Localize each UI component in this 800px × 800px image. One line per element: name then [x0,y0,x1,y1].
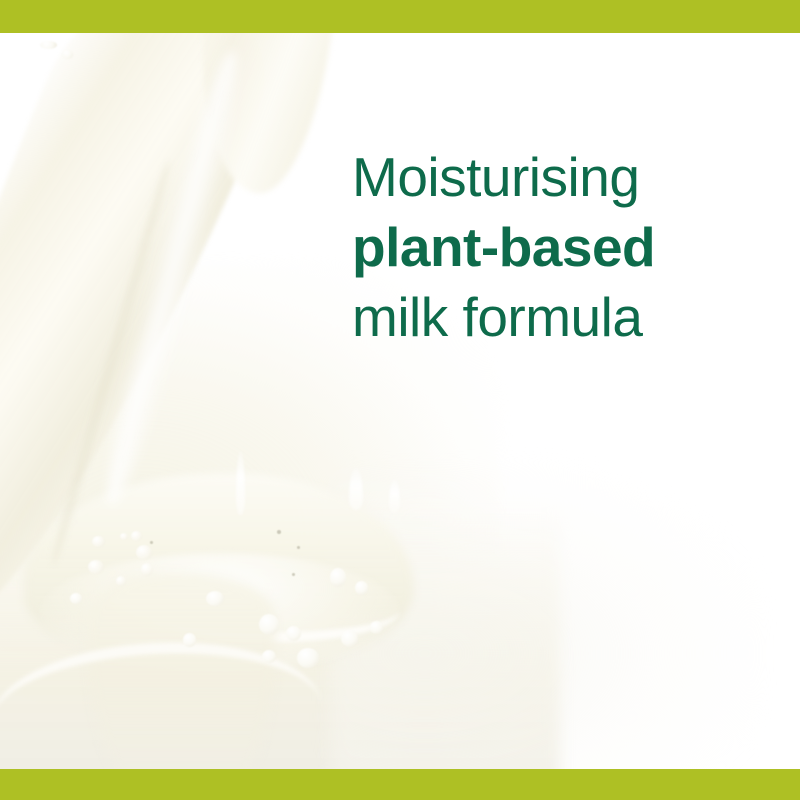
splash-droplet-13 [62,50,73,59]
splash-droplet-6 [297,648,319,668]
milk-pour-stream-foot [86,573,276,769]
milk-pool-base [0,503,560,769]
splash-droplet-9 [370,621,383,634]
splash-droplet-5 [286,626,301,641]
stream-bubble-4 [136,545,152,560]
splash-droplet-3 [206,591,224,606]
product-banner: Moisturising plant-based milk formula [0,0,800,800]
splash-wave-front [0,634,322,722]
milk-pour-stream-edge [46,159,175,567]
milk-pour-stream-neck [185,33,336,199]
splash-droplet-10 [183,633,196,647]
splash-droplet-8 [341,630,358,647]
headline-block: Moisturising plant-based milk formula [352,150,752,345]
splash-spike-1 [236,451,245,515]
milk-pour-stream-highlight [90,45,254,510]
stream-bubble-3 [131,531,142,541]
splash-droplet-1 [330,568,346,587]
splash-spike-3 [389,479,400,513]
milk-pour-stream [0,33,303,672]
splash-speck-1 [277,530,281,534]
splash-droplet-2 [355,581,368,595]
stream-bubble-1 [92,536,105,547]
splash-spike-2 [349,468,363,510]
stream-bubble-6 [141,563,153,576]
top-accent-bar [0,0,800,33]
splash-droplet-7 [262,650,276,663]
bottom-accent-bar [0,769,800,800]
headline-line-3: milk formula [352,290,752,345]
headline-line-1: Moisturising [352,150,752,205]
splash-droplet-12 [40,41,57,49]
stream-bubble-7 [116,576,126,586]
splash-speck-4 [292,573,295,576]
splash-droplet-11 [70,593,82,604]
splash-speck-3 [150,541,153,544]
headline-line-2: plant-based [352,220,752,275]
splash-droplet-4 [259,614,279,635]
milk-pour-splash-photo [0,33,800,769]
stream-bubble-2 [120,533,128,540]
stream-bubble-5 [88,560,104,574]
splash-speck-2 [297,546,300,549]
